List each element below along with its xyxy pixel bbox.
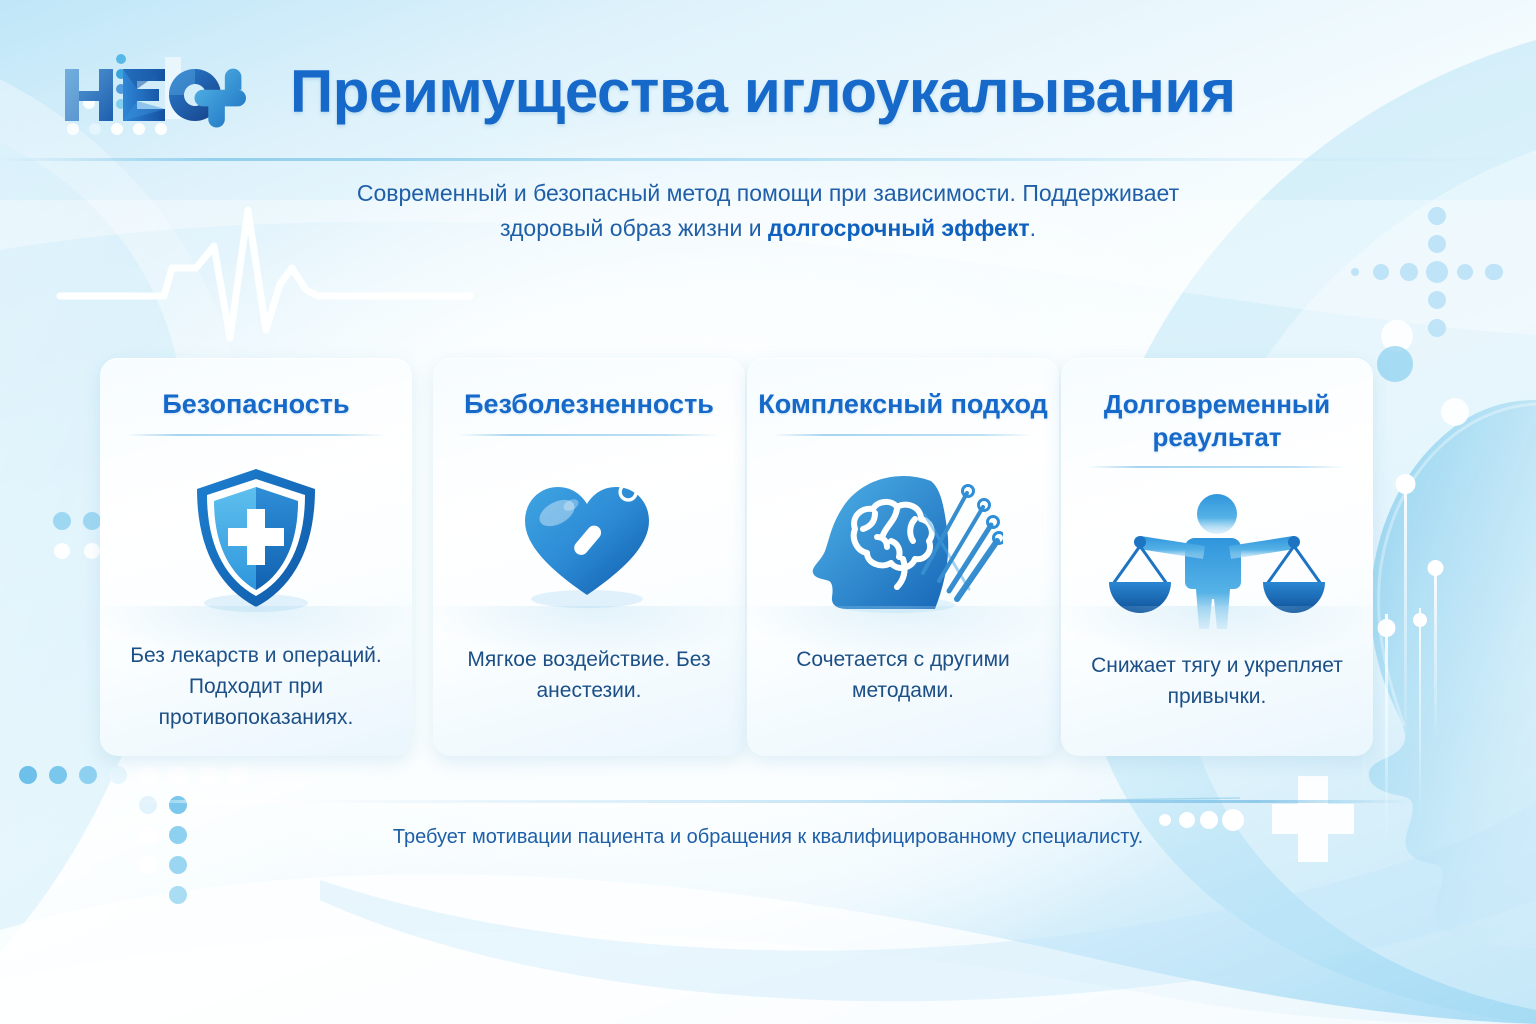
card-title: Долговременный реаультат [1071, 388, 1363, 454]
card-icon-slot [100, 450, 412, 630]
header-divider [0, 158, 1536, 161]
subtitle-line-2-suffix: . [1030, 215, 1036, 241]
subtitle-line-1: Современный и безопасный метод помощи пр… [357, 180, 1179, 206]
benefit-cards: Безопасность [100, 358, 1440, 758]
card-divider [1087, 466, 1347, 468]
card-icon-slot [747, 450, 1059, 630]
head-brain-needles-icon [803, 463, 1003, 618]
card-divider [126, 434, 386, 436]
card-description: Сочетается с другими методами. [761, 644, 1045, 706]
card-divider [773, 434, 1033, 436]
card-description: Без лекарств и операций. Подходит при пр… [114, 640, 398, 733]
subtitle: Современный и безопасный метод помощи пр… [268, 176, 1268, 246]
heart-needle-icon [509, 465, 669, 615]
shield-cross-icon [191, 465, 321, 615]
card-title: Безболезненность [443, 388, 735, 421]
card-title: Безопасность [110, 388, 402, 421]
card-painless[interactable]: Безболезненность [433, 358, 745, 756]
card-divider [459, 434, 719, 436]
card-description: Снижает тягу и укрепляет привычки. [1075, 650, 1359, 712]
neo-plus-logo [47, 47, 252, 147]
card-complex-approach[interactable]: Комплексный подход [747, 358, 1059, 756]
card-icon-slot [433, 450, 745, 630]
header: Преимущества иглоукалывания [0, 0, 1536, 160]
card-icon-slot [1061, 470, 1373, 650]
page-title: Преимущества иглоукалывания [290, 57, 1440, 126]
card-description: Мягкое воздействие. Без анестезии. [447, 644, 731, 706]
balance-scales-person-icon [1107, 488, 1327, 633]
subtitle-line-2-prefix: здоровый образ жизни и [500, 215, 768, 241]
card-safety[interactable]: Безопасность [100, 358, 412, 756]
card-title: Комплексный подход [757, 388, 1049, 421]
card-long-term-result[interactable]: Долговременный реаультат [1061, 358, 1373, 756]
footer-divider [130, 800, 1410, 803]
subtitle-emphasis: долгосрочный эффект [768, 215, 1030, 241]
infographic-canvas: Преимущества иглоукалывания Современный … [0, 0, 1536, 1024]
footer-note: Требует мотивации пациента и обращения к… [268, 826, 1268, 849]
